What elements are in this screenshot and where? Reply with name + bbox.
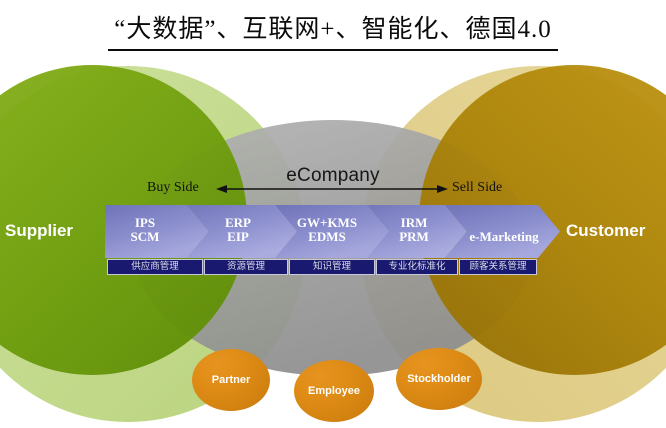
- stakeholder-stockholder-label: Stockholder: [407, 373, 471, 385]
- process-caption-3: 知识管理: [289, 259, 375, 275]
- chevron-label-1-line2: SCM: [110, 230, 180, 244]
- customer-label: Customer: [566, 221, 645, 241]
- chevron-label-2-line1: ERP: [203, 216, 273, 230]
- chevron-label-4-line2: PRM: [382, 230, 446, 244]
- process-caption-1: 供应商管理: [107, 259, 203, 275]
- slide-canvas: “大数据”、互联网+、智能化、德国4.0: [0, 0, 666, 428]
- chevron-label-3-line1: GW+KMS: [288, 216, 366, 230]
- chevron-label-2-line2: EIP: [203, 230, 273, 244]
- process-caption-2: 资源管理: [204, 259, 288, 275]
- process-caption-row: 供应商管理 资源管理 知识管理 专业化标准化 顾客关系管理: [107, 259, 538, 275]
- page-title: “大数据”、互联网+、智能化、德国4.0: [0, 14, 666, 60]
- chevron-label-4-line1: IRM: [382, 216, 446, 230]
- sell-side-label: Sell Side: [452, 180, 502, 196]
- stakeholder-employee: Employee: [294, 360, 374, 422]
- chevron-label-3: GW+KMS EDMS: [288, 216, 366, 244]
- stakeholder-employee-label: Employee: [308, 385, 360, 397]
- chevron-label-3-line2: EDMS: [288, 230, 366, 244]
- process-caption-5: 顾客关系管理: [459, 259, 537, 275]
- stakeholder-stockholder: Stockholder: [396, 348, 482, 410]
- stakeholder-partner-label: Partner: [212, 374, 251, 386]
- buy-side-label: Buy Side: [147, 180, 199, 196]
- supplier-label: Supplier: [5, 221, 73, 241]
- chevron-label-2: ERP EIP: [203, 216, 273, 244]
- stakeholder-partner: Partner: [192, 349, 270, 411]
- chevron-label-4: IRM PRM: [382, 216, 446, 244]
- page-title-text: “大数据”、互联网+、智能化、德国4.0: [108, 14, 558, 51]
- chevron-label-5: e-Marketing: [456, 230, 552, 244]
- chevron-label-1-line1: IPS: [110, 216, 180, 230]
- process-caption-4: 专业化标准化: [376, 259, 458, 275]
- chevron-label-1: IPS SCM: [110, 216, 180, 244]
- ecompany-label: eCompany: [0, 165, 666, 187]
- chevron-label-5-line1: e-Marketing: [456, 230, 552, 244]
